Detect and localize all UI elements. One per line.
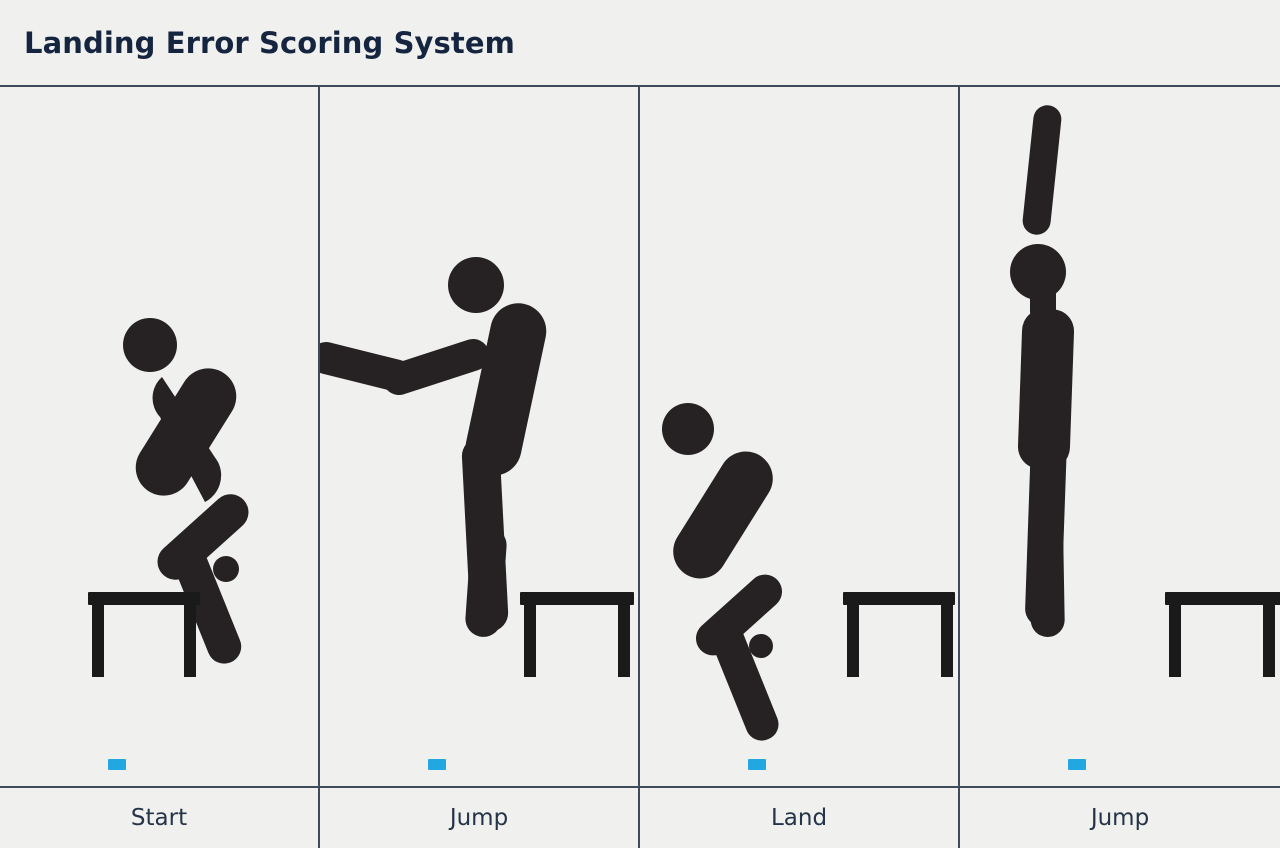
- figure-forearm: [320, 339, 416, 395]
- phase-label-land: Land: [640, 788, 960, 848]
- box-platform: [88, 592, 200, 677]
- floor-marker: [748, 759, 766, 770]
- page-header: Landing Error Scoring System: [0, 0, 1280, 86]
- box-platform: [520, 592, 634, 677]
- stick-figure-land-illustration: [640, 87, 960, 786]
- figure-head: [123, 318, 177, 372]
- stick-figure-jump-2-illustration: [960, 87, 1280, 786]
- panel-land[interactable]: [640, 87, 960, 786]
- box-platform: [843, 592, 955, 677]
- figure-arm-overhead: [1021, 104, 1062, 236]
- floor-marker: [108, 759, 126, 770]
- floor-marker: [428, 759, 446, 770]
- figure-head: [662, 403, 714, 455]
- figure-lower-leg: [464, 526, 508, 638]
- phase-panels: [0, 87, 1280, 786]
- phase-label-start: Start: [0, 788, 320, 848]
- floor-marker: [1068, 759, 1086, 770]
- figure-head: [448, 257, 504, 313]
- figure-knee: [213, 556, 239, 582]
- stick-figure-start-illustration: [0, 87, 320, 786]
- figure-torso: [663, 441, 783, 588]
- figure-lower-leg: [1029, 527, 1065, 638]
- figure-torso: [125, 358, 247, 506]
- figure-knee: [749, 634, 773, 658]
- stick-figure-jump-1-illustration: [320, 87, 640, 786]
- panel-jump-2[interactable]: [960, 87, 1280, 786]
- phase-labels: Start Jump Land Jump: [0, 788, 1280, 848]
- phase-label-jump-1: Jump: [320, 788, 640, 848]
- figure-shin: [706, 617, 783, 745]
- box-platform: [1165, 592, 1280, 677]
- panel-jump-1[interactable]: [320, 87, 640, 786]
- phase-label-jump-2: Jump: [960, 788, 1280, 848]
- panel-start[interactable]: [0, 87, 320, 786]
- page-title: Landing Error Scoring System: [24, 26, 515, 60]
